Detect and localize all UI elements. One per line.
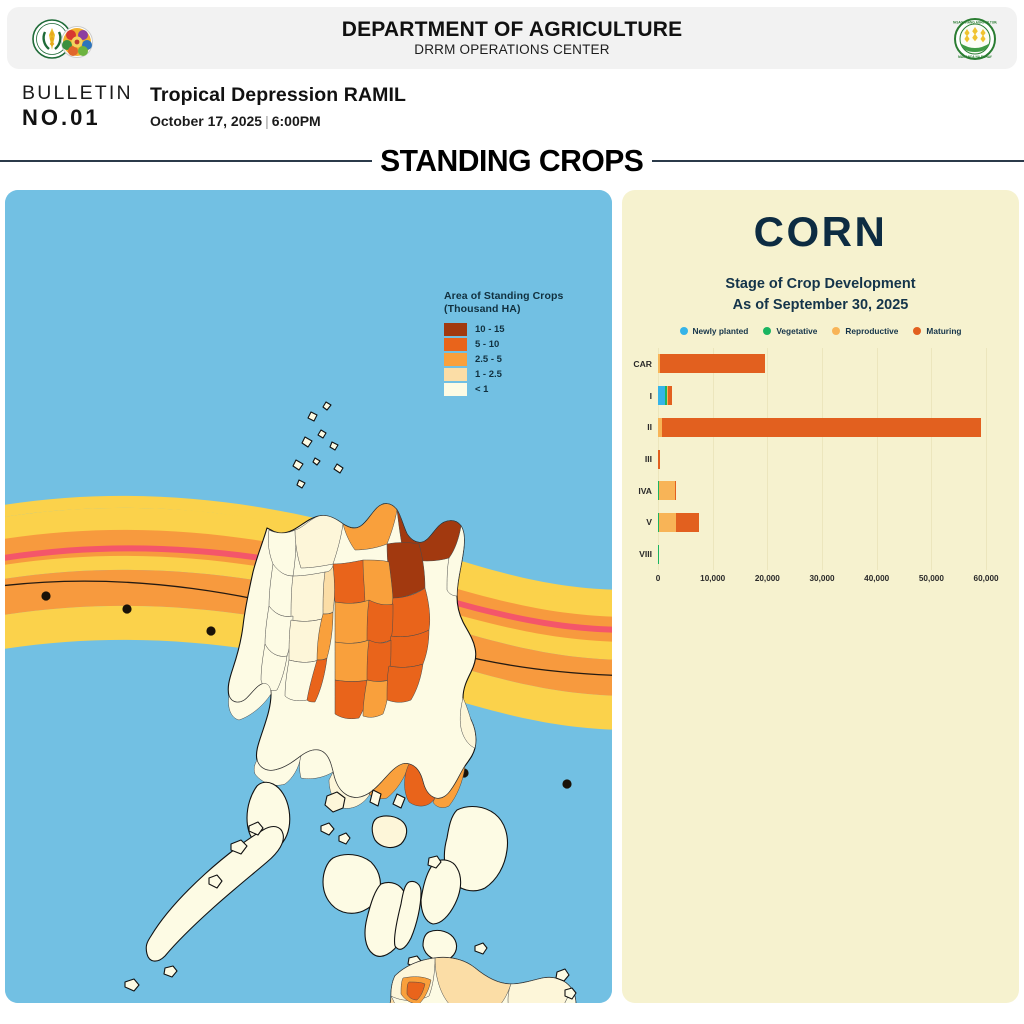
chart-bar-row[interactable]: I [658,386,997,405]
chart-category-label: III [645,454,652,464]
chart-legend-dot [913,327,921,335]
map-legend-title: Area of Standing Crops (Thousand HA) [444,290,563,316]
event-separator: | [262,113,272,129]
chart-category-label: IVA [638,486,652,496]
track-point [41,591,50,600]
section-title: STANDING CROPS [376,143,647,179]
chart-category-label: VIII [639,549,652,559]
chart-legend-label: Newly planted [693,326,749,336]
page-subtitle: DRRM OPERATIONS CENTER [342,43,683,57]
map-legend-label: 2.5 - 5 [475,354,502,365]
map-legend: Area of Standing Crops (Thousand HA) 10 … [444,290,563,397]
chart-category-label: II [647,422,652,432]
chart-x-tick-label: 40,000 [864,574,889,583]
chart-x-axis: 010,00020,00030,00040,00050,00060,000 [658,574,997,590]
chart-category-label: V [646,517,652,527]
track-point [206,626,215,635]
chart-legend[interactable]: Newly plantedVegetativeReproductiveMatur… [622,326,1019,336]
map-legend-row: 10 - 15 [444,322,563,337]
event-name: Tropical Depression RAMIL [150,84,406,107]
masbate-island [372,816,406,848]
chart-bar-row[interactable]: V [658,513,997,532]
chart-stacked-bar[interactable] [658,481,997,500]
chart-category-label: CAR [633,359,652,369]
chart-bar-row[interactable]: CAR [658,354,997,373]
page-header: DEPARTMENT OF AGRICULTURE DRRM OPERATION… [7,7,1017,69]
chart-bar-row[interactable]: II [658,418,997,437]
bulletin-page: DEPARTMENT OF AGRICULTURE DRRM OPERATION… [0,0,1024,1024]
chart-legend-item[interactable]: Vegetative [763,326,817,336]
chart-bar-row[interactable]: VIII [658,545,997,564]
masaganang-agrikultura-seal-icon: MASAGANANG AGRIKULTURA MAGANDA NA BUHAY [953,17,997,61]
event-info: Tropical Depression RAMIL October 17, 20… [150,84,406,129]
chart-bar-segment[interactable] [658,450,660,469]
chart-stacked-bar[interactable] [658,354,997,373]
chart-x-tick-label: 30,000 [810,574,835,583]
map-legend-label: 10 - 15 [475,324,505,335]
chart-bar-segment[interactable] [662,418,980,437]
map-panel[interactable]: Area of Standing Crops (Thousand HA) 10 … [5,190,612,1003]
map-legend-label: < 1 [475,384,488,395]
svg-text:MASAGANANG AGRIKULTURA: MASAGANANG AGRIKULTURA [953,21,997,25]
map-legend-rows: 10 - 155 - 102.5 - 51 - 2.5< 1 [444,322,563,397]
page-title: DEPARTMENT OF AGRICULTURE [342,19,683,41]
chart-legend-dot [832,327,840,335]
chart-bar-segment[interactable] [668,386,672,405]
chart-x-tick-label: 0 [656,574,661,583]
map-legend-title-line1: Area of Standing Crops [444,290,563,303]
track-point [562,779,571,788]
chart-legend-dot [763,327,771,335]
chart-legend-item[interactable]: Newly planted [680,326,749,336]
map-legend-row: 1 - 2.5 [444,367,563,382]
chart-x-tick-label: 50,000 [919,574,944,583]
section-rule-right [652,160,1024,162]
chart-legend-dot [680,327,688,335]
event-datetime: October 17, 2025|6:00PM [150,113,406,129]
map-legend-swatch [444,323,467,336]
map-legend-swatch [444,338,467,351]
chart-plot-area[interactable]: CARIIIIIIIVAVVIII 010,00020,00030,00040,… [622,348,1019,598]
map-legend-title-line2: (Thousand HA) [444,303,563,316]
chart-legend-label: Vegetative [776,326,817,336]
chart-legend-label: Maturing [926,326,961,336]
map-legend-swatch [444,383,467,396]
event-date: October 17, 2025 [150,113,262,129]
section-rule-left [0,160,372,162]
map-legend-swatch [444,368,467,381]
track-point [122,604,131,613]
chart-stacked-bar[interactable] [658,513,997,532]
chart-category-label: I [650,391,652,401]
chart-bar-segment[interactable] [676,513,699,532]
chart-stacked-bar[interactable] [658,386,997,405]
chart-subtitle: Stage of Crop Development As of Septembe… [622,274,1019,316]
bulletin-label: BULLETIN [22,82,142,105]
header-title-block: DEPARTMENT OF AGRICULTURE DRRM OPERATION… [342,19,683,57]
svg-text:MAGANDA NA BUHAY: MAGANDA NA BUHAY [958,55,993,59]
bulletin-number: BULLETIN NO.01 [22,82,142,131]
chart-bar-segment[interactable] [658,545,659,564]
chart-bar-segment[interactable] [658,386,665,405]
section-header: STANDING CROPS [0,140,1024,182]
chart-bars[interactable]: CARIIIIIIIVAVVIII [658,348,997,570]
department-of-agriculture-seal-icon [25,19,103,59]
chart-panel[interactable]: CORN Stage of Crop Development As of Sep… [622,190,1019,1003]
chart-title: CORN [622,208,1019,256]
bulletin-number-value: NO.01 [22,105,142,131]
map-legend-row: 2.5 - 5 [444,352,563,367]
chart-bar-segment[interactable] [660,354,766,373]
chart-bar-segment[interactable] [675,481,676,500]
event-time: 6:00PM [272,113,321,129]
chart-x-tick-label: 60,000 [974,574,999,583]
chart-stacked-bar[interactable] [658,545,997,564]
chart-subtitle-line1: Stage of Crop Development [622,274,1019,295]
chart-stacked-bar[interactable] [658,450,997,469]
map-legend-row: < 1 [444,382,563,397]
chart-bar-row[interactable]: IVA [658,481,997,500]
map-legend-label: 5 - 10 [475,339,499,350]
chart-x-tick-label: 10,000 [700,574,725,583]
chart-legend-item[interactable]: Reproductive [832,326,898,336]
chart-x-tick-label: 20,000 [755,574,780,583]
chart-bar-row[interactable]: III [658,450,997,469]
chart-stacked-bar[interactable] [658,418,997,437]
map-legend-label: 1 - 2.5 [475,369,502,380]
bohol-island [423,930,457,960]
chart-bar-segment[interactable] [659,481,675,500]
map-legend-row: 5 - 10 [444,337,563,352]
chart-subtitle-line2: As of September 30, 2025 [622,295,1019,316]
chart-bar-segment[interactable] [659,513,676,532]
map-legend-swatch [444,353,467,366]
chart-legend-label: Reproductive [845,326,898,336]
chart-legend-item[interactable]: Maturing [913,326,961,336]
